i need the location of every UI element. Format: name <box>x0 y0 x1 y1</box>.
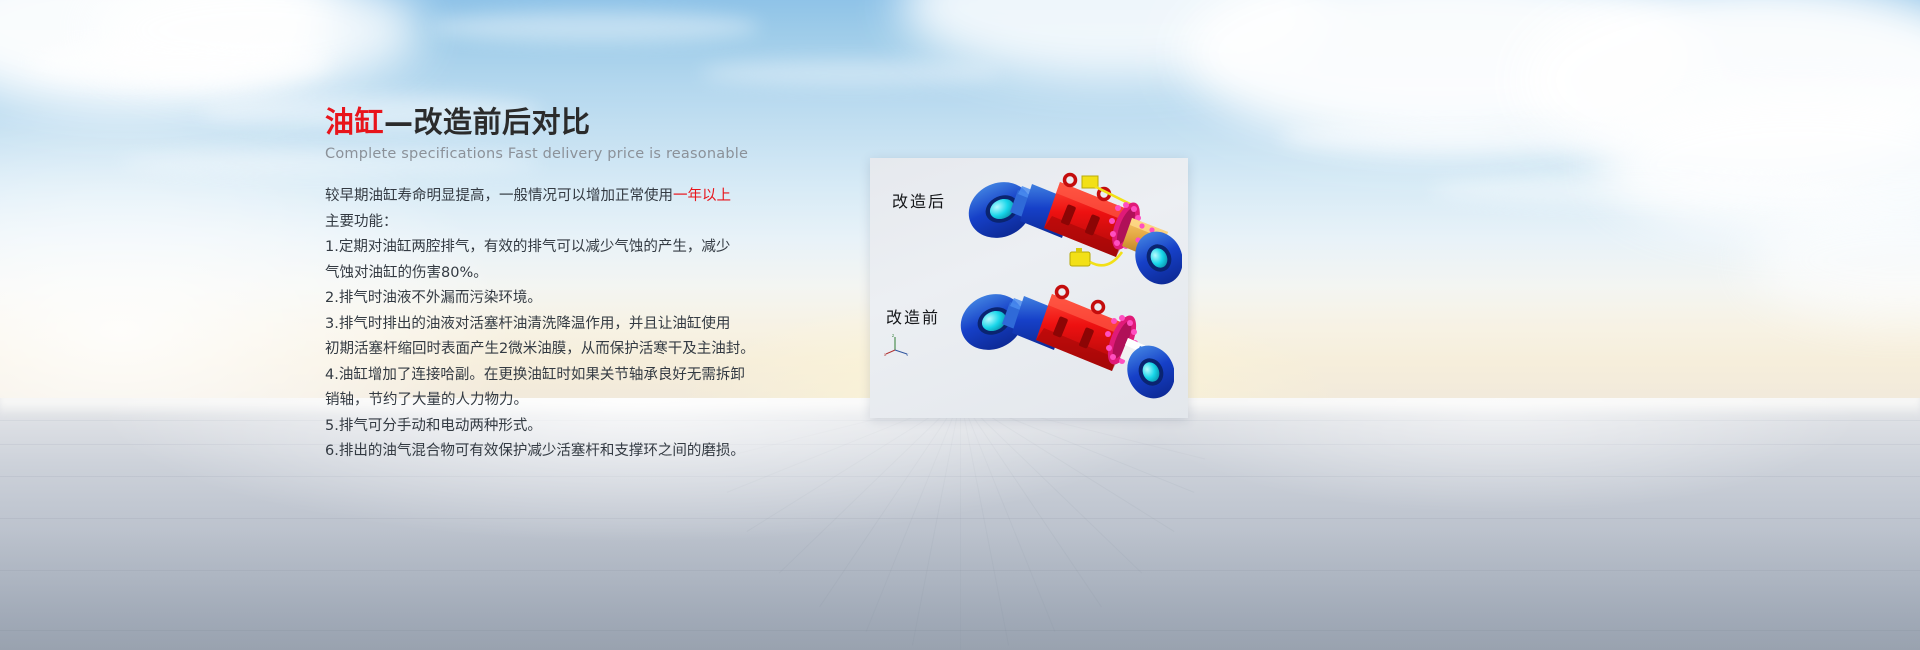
svg-text:y: y <box>906 352 909 356</box>
svg-text:z: z <box>892 334 894 338</box>
label-after-modification: 改造后 <box>892 188 946 212</box>
feature-line: 气蚀对油缸的伤害80%。 <box>325 261 845 287</box>
feature-line: 2.排气时油液不外漏而污染环境。 <box>325 286 845 312</box>
cylinder-before-modification <box>948 276 1174 406</box>
label-before-modification: 改造前 <box>886 304 940 328</box>
description-intro-highlight: 一年以上 <box>673 188 731 204</box>
description-block: 较早期油缸寿命明显提高，一般情况可以增加正常使用一年以上 主要功能： 1.定期对… <box>325 184 845 465</box>
page-title: 油缸—改造前后对比 <box>325 104 845 140</box>
feature-line: 初期活塞杆缩回时表面产生2微米油膜，从而保护活寒干及主油封。 <box>325 337 845 363</box>
features-heading: 主要功能： <box>325 210 845 236</box>
page-subtitle: Complete specifications Fast delivery pr… <box>325 146 845 162</box>
banner-copy: 油缸—改造前后对比 Complete specifications Fast d… <box>325 104 845 465</box>
description-intro: 较早期油缸寿命明显提高，一般情况可以增加正常使用一年以上 <box>325 184 845 210</box>
feature-line: 5.排气可分手动和电动两种形式。 <box>325 414 845 440</box>
coordinate-axis-icon: z x y <box>884 334 910 356</box>
feature-line: 1.定期对油缸两腔排气，有效的排气可以减少气蚀的产生，减少 <box>325 235 845 261</box>
banner-stage: 油缸—改造前后对比 Complete specifications Fast d… <box>0 0 1920 650</box>
ground-pavement <box>0 398 1920 650</box>
description-intro-text: 较早期油缸寿命明显提高，一般情况可以增加正常使用 <box>325 188 673 204</box>
feature-line: 3.排气时排出的油液对活塞杆油清洗降温作用，并且让油缸使用 <box>325 312 845 338</box>
feature-line: 销轴，节约了大量的人力物力。 <box>325 388 845 414</box>
feature-line: 4.油缸增加了连接哈副。在更换油缸时如果关节轴承良好无需拆卸 <box>325 363 845 389</box>
product-image-panel: 改造后 改造前 z x y <box>870 158 1188 418</box>
feature-line: 6.排出的油气混合物可有效保护减少活塞杆和支撑环之间的磨损。 <box>325 439 845 465</box>
page-title-rest: —改造前后对比 <box>384 105 591 139</box>
ground-vignette <box>0 530 1920 650</box>
page-title-accent: 油缸 <box>325 105 384 139</box>
